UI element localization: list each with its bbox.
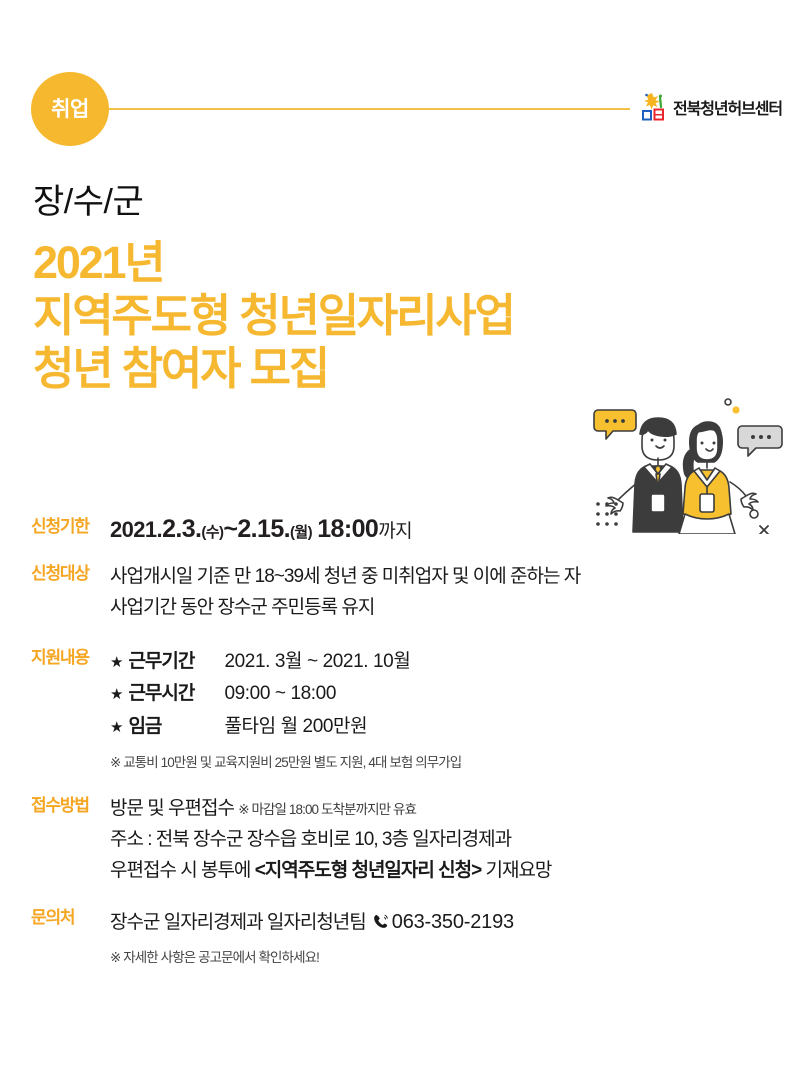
poster-canvas: 취업 전북청년허브센터 장/수/군 <box>0 0 800 1070</box>
headline-year: 2021년 <box>33 236 514 289</box>
apply-address: 주소 : 전북 장수군 장수읍 호비로 10, 3층 일자리경제과 <box>110 825 800 856</box>
deadline-end-day: (월) <box>290 524 312 541</box>
speech-bubble-right-icon <box>738 426 782 456</box>
support-item-2-value: 09:00 ~ 18:00 <box>224 678 336 711</box>
apply-method-line: 방문 및 우편접수 ※ 마감일 18:00 도착분까지만 유효 <box>110 794 800 825</box>
star-bullet-icon-3: ★ <box>110 715 122 741</box>
apply-method-note: ※ 마감일 18:00 도착분까지만 유효 <box>238 802 416 817</box>
deadline-tilde: ~ <box>223 515 237 543</box>
label-apply-method: 접수방법 <box>0 794 110 818</box>
two-people-talking-illustration <box>572 388 800 534</box>
label-support: 지원내용 <box>0 646 110 670</box>
section-deadline: 신청기한 2021.2.3.(수)~2.15.(월) 18:00까지 <box>0 515 800 544</box>
region-name: 장/수/군 <box>33 182 514 222</box>
contact-note: ※ 자세한 사항은 공고문에서 확인하세요! <box>110 947 800 970</box>
jeonbuk-youth-hub-logo-icon <box>640 92 668 122</box>
star-bullet-icon: ★ <box>110 650 122 676</box>
contact-line: 장수군 일자리경제과 일자리청년팀063-350-2193 <box>110 906 800 941</box>
label-contact: 문의처 <box>0 906 110 930</box>
apply-mail-instruction: 우편접수 시 봉투에 <지역주도형 청년일자리 신청> 기재요망 <box>110 856 800 887</box>
phone-icon <box>372 910 389 941</box>
category-badge-label: 취업 <box>51 99 89 120</box>
circle-decoration <box>725 399 731 405</box>
support-item-3-value: 풀타임 월 200만원 <box>224 711 367 744</box>
info-sections: 신청기한 2021.2.3.(수)~2.15.(월) 18:00까지 신청대상 … <box>0 515 800 969</box>
headline-program: 지역주도형 청년일자리사업 <box>33 289 514 342</box>
contact-office: 장수군 일자리경제과 일자리청년팀 <box>110 912 366 933</box>
section-eligibility: 신청대상 사업개시일 기준 만 18~39세 청년 중 미취업자 및 이에 준하… <box>0 562 800 624</box>
section-contact: 문의처 장수군 일자리경제과 일자리청년팀063-350-2193 ※ 자세한 … <box>0 906 800 970</box>
deadline-year: 2021. <box>110 517 162 542</box>
eligibility-line-2: 사업기간 동안 장수군 주민등록 유지 <box>110 593 800 624</box>
section-support: 지원내용 ★ 근무기간 2021. 3월 ~ 2021. 10월 ★ 근무시간 … <box>0 646 800 775</box>
speech-bubble-left-icon <box>594 410 636 439</box>
deadline-time: 18:00 <box>317 515 378 543</box>
label-deadline: 신청기한 <box>0 515 110 539</box>
apply-method-value: 방문 및 우편접수 <box>110 798 234 819</box>
people-illustration <box>572 388 800 534</box>
support-item-1-key: 근무기간 <box>128 646 224 679</box>
poster-header: 취업 전북청년허브센터 <box>0 72 800 144</box>
star-bullet-icon-2: ★ <box>110 682 122 708</box>
header-divider-line <box>100 108 630 110</box>
brand-name: 전북청년허브센터 <box>673 95 782 119</box>
deadline-suffix: 까지 <box>378 521 412 542</box>
headline-recruit: 청년 참여자 모집 <box>33 342 514 395</box>
apply-mail-emphasis: <지역주도형 청년일자리 신청> <box>255 860 482 881</box>
brand-lockup: 전북청년허브센터 <box>640 92 782 122</box>
support-item-2: ★ 근무시간 09:00 ~ 18:00 <box>110 678 800 711</box>
category-badge: 취업 <box>31 72 109 146</box>
support-note: ※ 교통비 10만원 및 교육지원비 25만원 별도 지원, 4대 보험 의무가… <box>110 752 800 775</box>
dot-decoration <box>732 406 739 413</box>
apply-mail-prefix: 우편접수 시 봉투에 <box>110 860 255 881</box>
deadline-start-date: 2.3. <box>162 515 201 543</box>
deadline-end-date: 2.15. <box>237 515 290 543</box>
eligibility-line-1: 사업개시일 기준 만 18~39세 청년 중 미취업자 및 이에 준하는 자 <box>110 562 800 593</box>
apply-mail-suffix: 기재요망 <box>481 860 551 881</box>
support-item-1-value: 2021. 3월 ~ 2021. 10월 <box>224 646 410 679</box>
title-block: 장/수/군 2021년 지역주도형 청년일자리사업 청년 참여자 모집 <box>33 182 514 395</box>
contact-phone[interactable]: 063-350-2193 <box>392 911 514 933</box>
deadline-start-day: (수) <box>201 524 223 541</box>
support-item-1: ★ 근무기간 2021. 3월 ~ 2021. 10월 <box>110 646 800 679</box>
label-eligibility: 신청대상 <box>0 562 110 586</box>
support-item-3-key: 임금 <box>128 711 224 744</box>
deadline-value: 2021.2.3.(수)~2.15.(월) 18:00까지 <box>110 515 800 544</box>
support-item-3: ★ 임금 풀타임 월 200만원 <box>110 711 800 744</box>
support-item-2-key: 근무시간 <box>128 678 224 711</box>
section-apply-method: 접수방법 방문 및 우편접수 ※ 마감일 18:00 도착분까지만 유효 주소 … <box>0 794 800 886</box>
